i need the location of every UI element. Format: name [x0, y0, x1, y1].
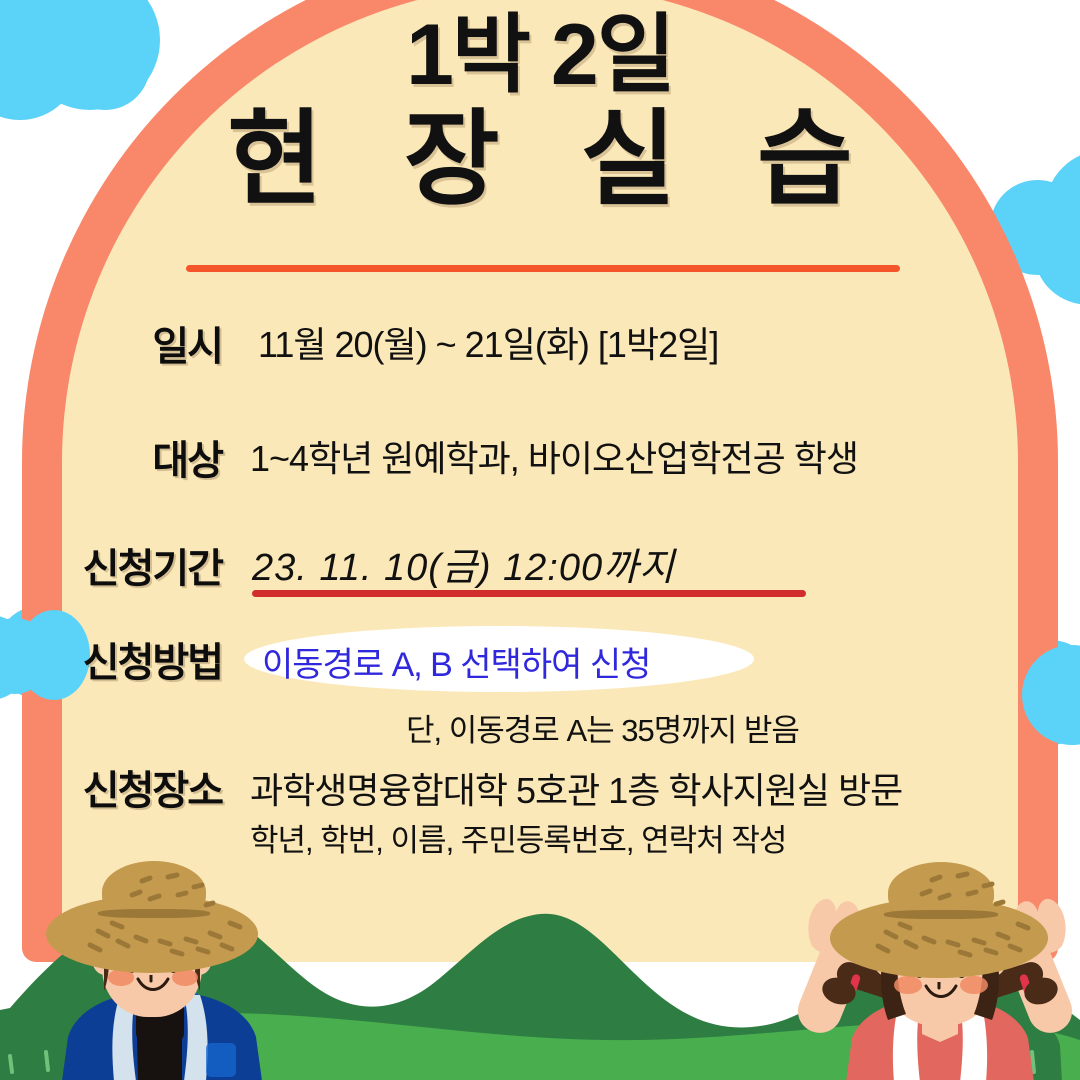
- poster-title: 1박 2일 현 장 실 습: [0, 10, 1080, 217]
- info-value: 1~4학년 원예학과, 바이오산업학전공 학생: [250, 430, 858, 482]
- title-divider: [186, 265, 900, 272]
- info-note-place: 학년, 학번, 이름, 주민등록번호, 연락처 작성: [250, 815, 786, 860]
- info-note-method: 단, 이동경로 A는 35명까지 받음: [406, 705, 799, 750]
- info-label: 대상: [0, 428, 222, 486]
- cheek: [894, 976, 922, 994]
- info-label: 일시: [0, 314, 222, 372]
- poster-canvas: 1박 2일 현 장 실 습 일시 11월 20(월) ~ 21일(화) [1박2…: [0, 0, 1080, 1080]
- title-line-2: 현 장 실 습: [0, 104, 1080, 216]
- info-value-method: 이동경로 A, B 선택하여 신청: [262, 637, 650, 686]
- cloud-puff: [1022, 645, 1080, 745]
- info-value-place: 과학생명융합대학 5호관 1층 학사지원실 방문: [250, 762, 902, 814]
- character-farmer-right: [790, 860, 1080, 1080]
- hat-texture: [46, 861, 258, 973]
- mouth: [922, 982, 960, 1004]
- period-underline: [252, 590, 806, 597]
- info-label: 신청장소: [0, 758, 222, 816]
- info-label: 신청방법: [0, 630, 222, 688]
- hat-texture: [830, 862, 1048, 978]
- cloud-on-arch-right: [1022, 645, 1080, 745]
- info-value: 11월 20(월) ~ 21일(화) [1박2일]: [258, 316, 718, 368]
- character-farmer-left: [10, 855, 310, 1080]
- cheek: [960, 976, 988, 994]
- info-label: 신청기간: [0, 536, 222, 594]
- mouth: [134, 975, 172, 997]
- info-value-period: 23. 11. 10(금) 12:00까지: [252, 536, 675, 591]
- title-line-1: 1박 2일: [0, 10, 1080, 100]
